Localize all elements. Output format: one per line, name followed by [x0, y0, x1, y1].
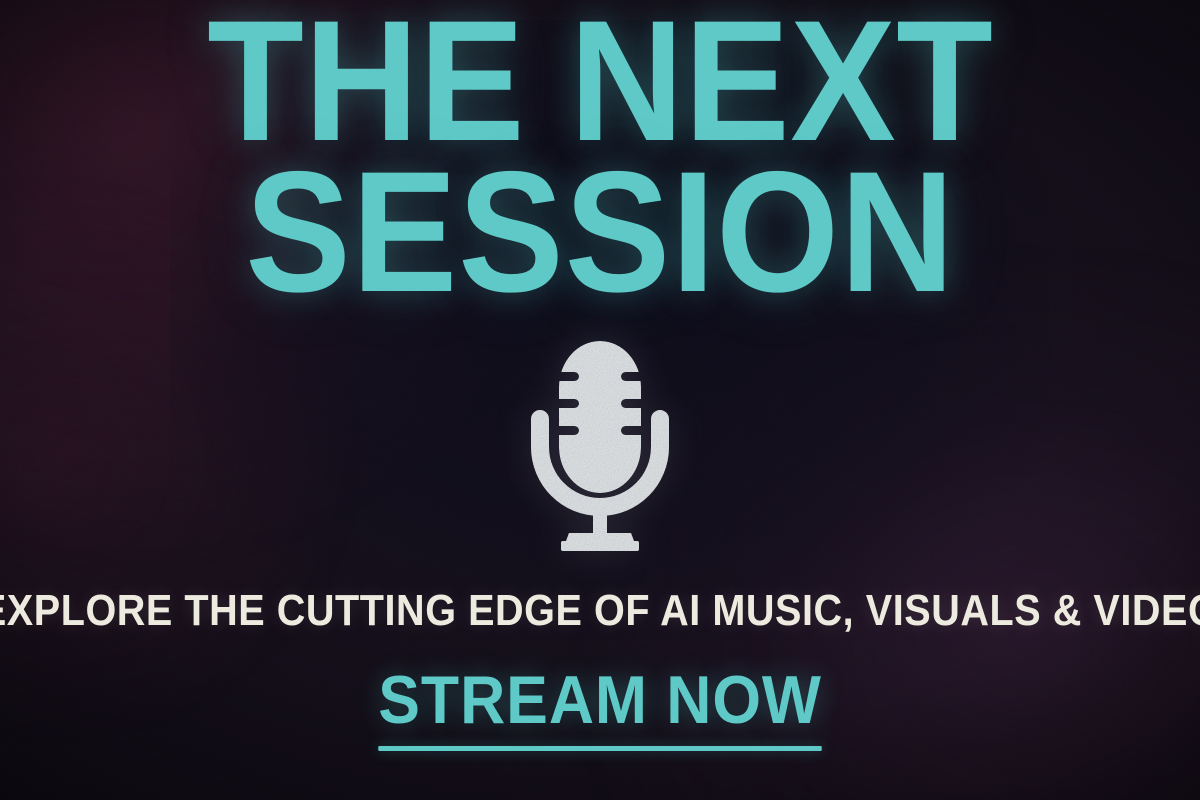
page-title: THE NEXT SESSION [173, 0, 1028, 309]
stream-now-label: STREAM NOW [378, 662, 822, 738]
subtitle-tagline: EXPLORE THE CUTTING EDGE OF AI MUSIC, VI… [0, 555, 1200, 633]
headline-line-2: SESSION [207, 157, 993, 308]
promo-poster: THE NEXT SESSION [0, 0, 1200, 800]
stream-now-link[interactable]: STREAM NOW [378, 666, 822, 751]
headline-line-1: THE NEXT [207, 0, 993, 157]
microphone-icon [515, 333, 685, 555]
poster-content: THE NEXT SESSION [0, 0, 1200, 800]
stream-now-underline [378, 746, 822, 751]
